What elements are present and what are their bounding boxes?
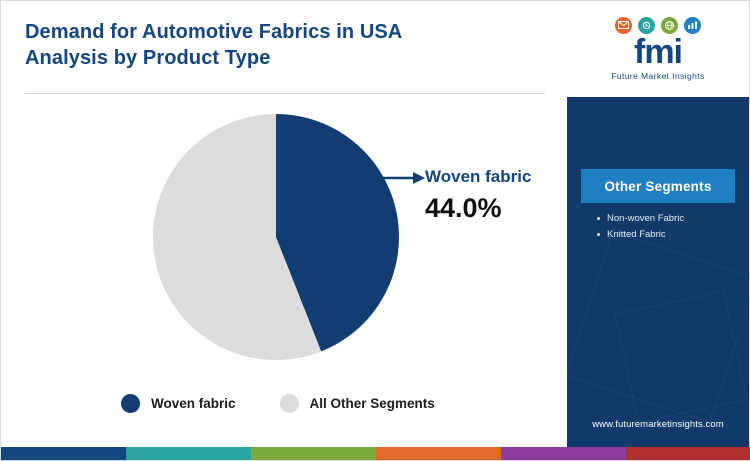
color-bar-segment	[126, 447, 251, 460]
pie-chart-slices	[153, 114, 399, 360]
list-item: Non-woven Fabric	[607, 211, 749, 227]
infographic-page: Demand for Automotive Fabrics in USA Ana…	[0, 0, 750, 461]
color-bar-segment	[251, 447, 376, 460]
color-bar-segment	[1, 447, 126, 460]
color-bar-segment	[626, 447, 750, 460]
list-item: Knitted Fabric	[607, 227, 749, 243]
chart-icon	[684, 17, 701, 34]
sidebar: fmi Future Market Insights Other Segment…	[567, 1, 749, 448]
logo: fmi Future Market Insights	[567, 1, 749, 97]
envelope-icon	[615, 17, 632, 34]
callout-label: Woven fabric	[425, 167, 531, 187]
logo-tagline: Future Market Insights	[611, 71, 704, 81]
legend-label: Woven fabric	[151, 396, 236, 411]
legend-swatch-icon	[121, 394, 140, 413]
color-bar-segment	[376, 447, 501, 460]
page-title-line1: Demand for Automotive Fabrics in USA	[25, 21, 402, 43]
pie-chart	[153, 114, 399, 360]
other-segments-header-label: Other Segments	[604, 179, 711, 194]
callout-arrow-icon	[383, 171, 425, 185]
other-segments-header: Other Segments	[581, 169, 735, 203]
page-title: Demand for Automotive Fabrics in USA Ana…	[25, 19, 545, 72]
decorative-shape	[615, 291, 748, 424]
logo-icon-row	[615, 17, 701, 34]
callout-value: 44.0%	[425, 193, 502, 224]
logo-wordmark: fmi	[634, 36, 682, 68]
website-url: www.futuremarketinsights.com	[567, 419, 749, 430]
color-bar	[1, 447, 750, 460]
legend-item-all-other-segments: All Other Segments	[280, 394, 435, 413]
chart-legend: Woven fabric All Other Segments	[121, 394, 435, 413]
gear-icon	[638, 17, 655, 34]
globe-icon	[661, 17, 678, 34]
legend-swatch-icon	[280, 394, 299, 413]
legend-label: All Other Segments	[310, 396, 435, 411]
chart-panel: Demand for Automotive Fabrics in USA Ana…	[1, 1, 569, 448]
title-divider	[25, 93, 545, 94]
other-segments-list: Non-woven Fabric Knitted Fabric	[593, 211, 749, 242]
legend-item-woven-fabric: Woven fabric	[121, 394, 236, 413]
color-bar-segment	[501, 447, 626, 460]
page-title-line2: Analysis by Product Type	[25, 47, 270, 69]
